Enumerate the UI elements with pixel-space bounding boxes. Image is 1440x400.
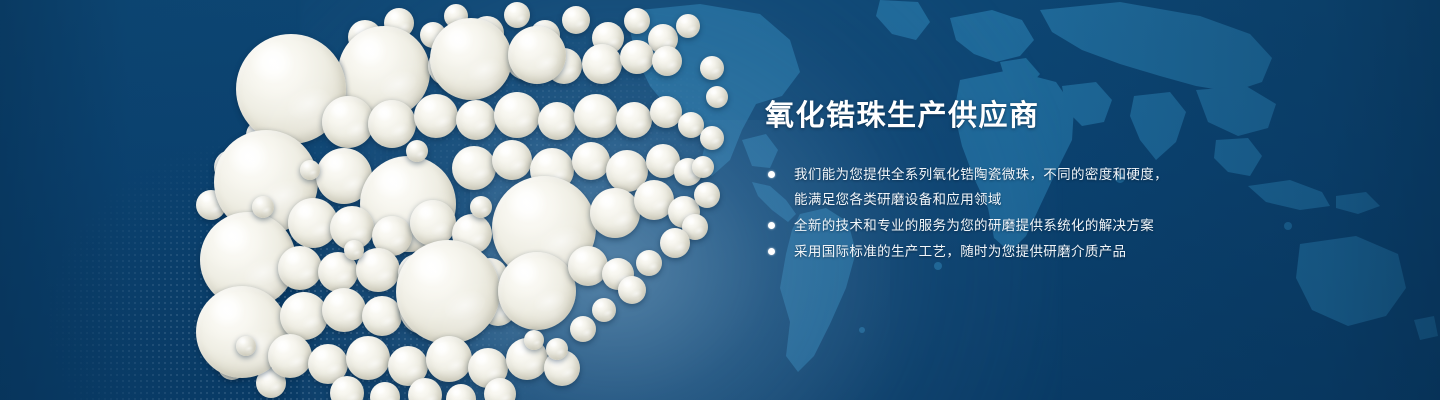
list-item-line: 采用国际标准的生产工艺，随时为您提供研磨介质产品 xyxy=(794,239,1385,264)
bullet-dot-icon xyxy=(768,248,775,255)
bullet-dot-icon xyxy=(768,222,775,229)
list-item: 全新的技术和专业的服务为您的研磨提供系统化的解决方案 xyxy=(765,213,1385,238)
banner-copy: 氧化锆珠生产供应商 我们能为您提供全系列氧化锆陶瓷微珠，不同的密度和硬度， 能满… xyxy=(765,100,1385,265)
bullet-dot-icon xyxy=(768,171,775,178)
list-item-line: 能满足您各类研磨设备和应用领域 xyxy=(794,187,1385,212)
list-item: 我们能为您提供全系列氧化锆陶瓷微珠，不同的密度和硬度， 能满足您各类研磨设备和应… xyxy=(765,162,1385,212)
list-item-line: 全新的技术和专业的服务为您的研磨提供系统化的解决方案 xyxy=(794,213,1385,238)
list-item-line: 我们能为您提供全系列氧化锆陶瓷微珠，不同的密度和硬度， xyxy=(794,162,1385,187)
hero-banner: 氧化锆珠生产供应商 我们能为您提供全系列氧化锆陶瓷微珠，不同的密度和硬度， 能满… xyxy=(0,0,1440,400)
feature-list: 我们能为您提供全系列氧化锆陶瓷微珠，不同的密度和硬度， 能满足您各类研磨设备和应… xyxy=(765,162,1385,264)
page-title: 氧化锆珠生产供应商 xyxy=(765,100,1385,133)
list-item: 采用国际标准的生产工艺，随时为您提供研磨介质产品 xyxy=(765,239,1385,264)
